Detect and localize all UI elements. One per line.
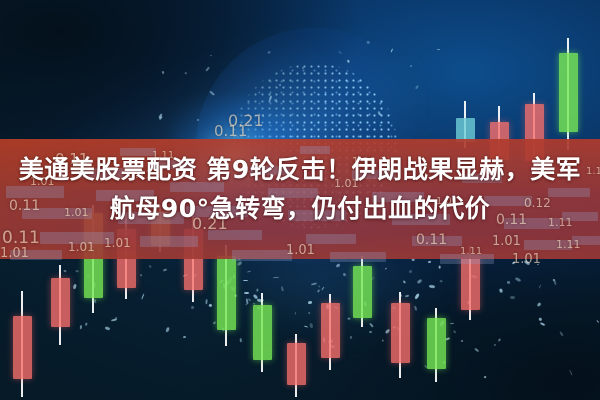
page-title: 美通美股票配资 第9轮反击！伊朗战果显赫，美军 航母90°急转弯，仍付出血的代价 [0, 150, 600, 228]
price-label: 0.11 [2, 228, 40, 248]
price-label: 0.11 [214, 122, 247, 140]
price-label: 0.11 [416, 232, 447, 248]
price-label: 1.11 [556, 238, 581, 251]
headline-line-1: 美通美股票配资 第9轮反击！伊朗战果显赫，美军 [8, 150, 592, 189]
price-label: 1.01 [0, 246, 29, 261]
news-banner: 0.110.110.111.011.011.010.210.111.010.11… [0, 0, 600, 400]
price-label: 1.01 [104, 236, 131, 250]
headline-line-2: 航母90°急转弯，仍付出血的代价 [8, 189, 592, 228]
price-label: 1.01 [68, 240, 95, 254]
price-label: 1.01 [512, 252, 541, 267]
price-label: 1.11 [460, 246, 482, 257]
price-label: 1.01 [286, 243, 315, 258]
price-label: 1.01 [492, 234, 521, 249]
